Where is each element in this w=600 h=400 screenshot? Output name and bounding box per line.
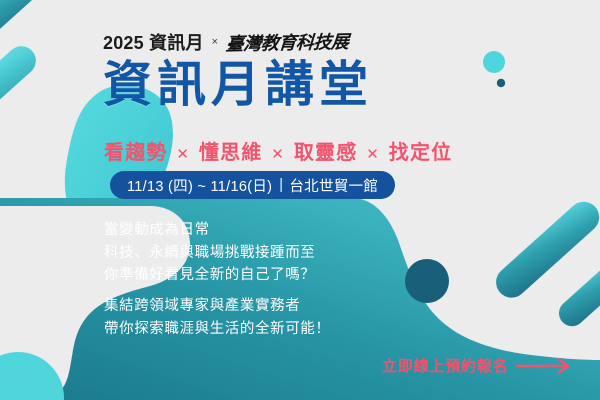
subtitle-separator-1: ✕ <box>174 146 192 163</box>
badge-dates: 11/13 (四) ~ 11/16(日) <box>127 175 272 196</box>
body-paragraph-2: 集結跨領域專家與產業實務者 帶你探索職涯與生活的全新可能！ <box>104 295 331 340</box>
event-logo-lockup: 2025 資訊月 × 臺灣教育科技展 <box>103 29 349 55</box>
subtitle-part-3: 取靈感 <box>294 142 358 164</box>
body-line: 科技、永續與職場挑戰接踵而至 <box>104 242 315 265</box>
subtitle: 看趨勢 ✕ 懂思維 ✕ 取靈感 ✕ 找定位 <box>104 136 452 165</box>
cta-label: 立即線上預約報名 <box>382 355 508 376</box>
body-paragraph-1: 當變動成為日常 科技、永續與職場挑戰接踵而至 你準備好看見全新的自己了嗎？ <box>104 219 315 287</box>
body-line: 集結跨領域專家與產業實務者 <box>104 295 331 318</box>
promotional-banner: 2025 資訊月 × 臺灣教育科技展 資訊月講堂 看趨勢 ✕ 懂思維 ✕ 取靈感… <box>0 0 600 400</box>
arrow-right-icon <box>515 358 577 374</box>
logo-cross-symbol: × <box>211 36 219 48</box>
subtitle-part-1: 看趨勢 <box>104 142 168 164</box>
logo-partner-label: 臺灣教育科技展 <box>225 28 349 57</box>
page-title: 資訊月講堂 <box>103 60 373 111</box>
cta-register-link[interactable]: 立即線上預約報名 <box>382 355 577 376</box>
subtitle-part-4: 找定位 <box>389 142 453 164</box>
banner-content: 2025 資訊月 × 臺灣教育科技展 資訊月講堂 看趨勢 ✕ 懂思維 ✕ 取靈感… <box>0 0 600 400</box>
date-venue-badge: 11/13 (四) ~ 11/16(日) | 台北世貿一館 <box>110 171 395 199</box>
body-line: 你準備好看見全新的自己了嗎？ <box>104 264 315 287</box>
subtitle-separator-2: ✕ <box>269 146 287 163</box>
badge-separator: | <box>272 177 289 193</box>
body-line: 當變動成為日常 <box>104 219 315 242</box>
body-line: 帶你探索職涯與生活的全新可能！ <box>104 318 331 341</box>
logo-year-label: 2025 資訊月 <box>103 29 204 55</box>
subtitle-separator-3: ✕ <box>364 146 382 163</box>
subtitle-part-2: 懂思維 <box>199 142 263 164</box>
badge-venue: 台北世貿一館 <box>289 175 378 196</box>
